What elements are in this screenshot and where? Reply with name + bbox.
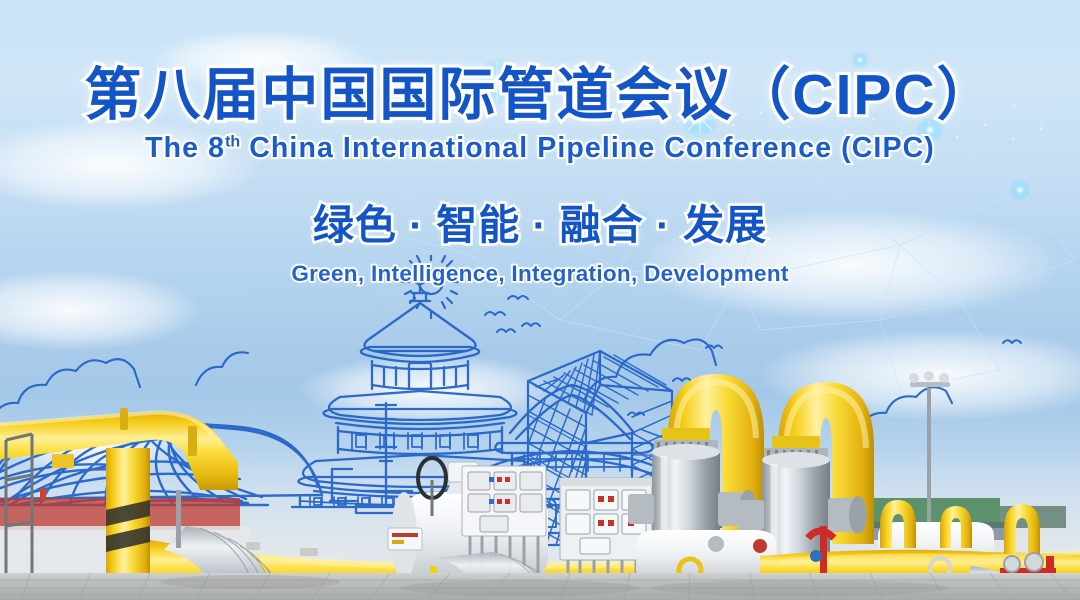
- conference-slogan-english: Green, Intelligence, Integration, Develo…: [0, 261, 1080, 287]
- conference-slogan-chinese: 绿色 · 智能 · 融合 · 发展: [0, 191, 1080, 251]
- cipc-conference-banner: 第八届中国国际管道会议（CIPC） The 8th China Internat…: [0, 0, 1080, 600]
- banner-text-block: 第八届中国国际管道会议（CIPC） The 8th China Internat…: [0, 0, 1080, 287]
- title-en-ordinal-suffix: th: [225, 133, 240, 150]
- title-en-prefix: The 8: [145, 132, 225, 164]
- title-en-rest: China International Pipeline Conference …: [249, 132, 935, 164]
- conference-title-chinese: 第八届中国国际管道会议（CIPC）: [0, 64, 1080, 128]
- conference-title-english: The 8th China International Pipeline Con…: [0, 132, 1080, 165]
